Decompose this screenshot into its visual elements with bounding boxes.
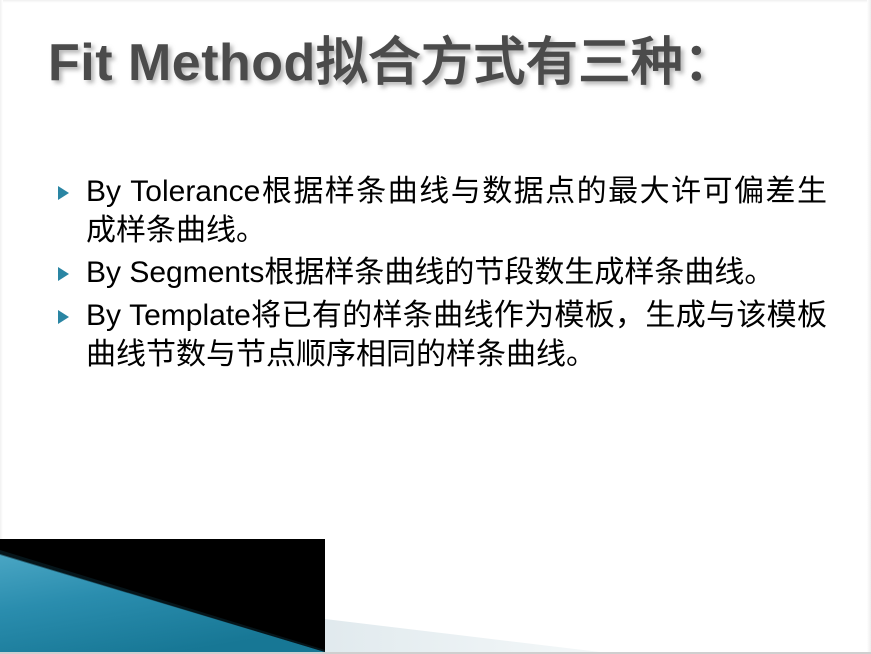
- slide-title: Fit Method拟合方式有三种：: [48, 35, 736, 92]
- list-item-text: By Template将已有的样条曲线作为模板，生成与该模板曲线节数与节点顺序相…: [86, 297, 827, 374]
- triangle-bullet-icon: [58, 186, 69, 200]
- slide-frame-top-edge: [0, 0, 871, 3]
- list-item: By Template将已有的样条曲线作为模板，生成与该模板曲线节数与节点顺序相…: [52, 297, 827, 374]
- slide-frame-right-edge: [867, 0, 871, 654]
- list-item: By Segments根据样条曲线的节段数生成样条曲线。: [52, 254, 827, 293]
- pale-blue-wedge: [0, 619, 600, 652]
- list-item-text: By Segments根据样条曲线的节段数生成样条曲线。: [86, 254, 827, 293]
- bottom-left-decoration: [0, 524, 871, 654]
- teal-edge-sliver: [0, 550, 325, 652]
- triangle-bullet-icon: [58, 267, 69, 281]
- slide-canvas: Fit Method拟合方式有三种： By Tolerance根据样条曲线与数据…: [0, 0, 871, 654]
- triangle-bullet-icon: [58, 310, 69, 324]
- list-item-text: By Tolerance根据样条曲线与数据点的最大许可偏差生成样条曲线。: [86, 173, 827, 250]
- list-item: By Tolerance根据样条曲线与数据点的最大许可偏差生成样条曲线。: [52, 173, 827, 250]
- teal-wedge: [0, 554, 325, 652]
- slide-frame-left-edge: [0, 0, 3, 654]
- black-angular-block: [0, 539, 325, 652]
- bullet-list: By Tolerance根据样条曲线与数据点的最大许可偏差生成样条曲线。 By …: [52, 173, 827, 378]
